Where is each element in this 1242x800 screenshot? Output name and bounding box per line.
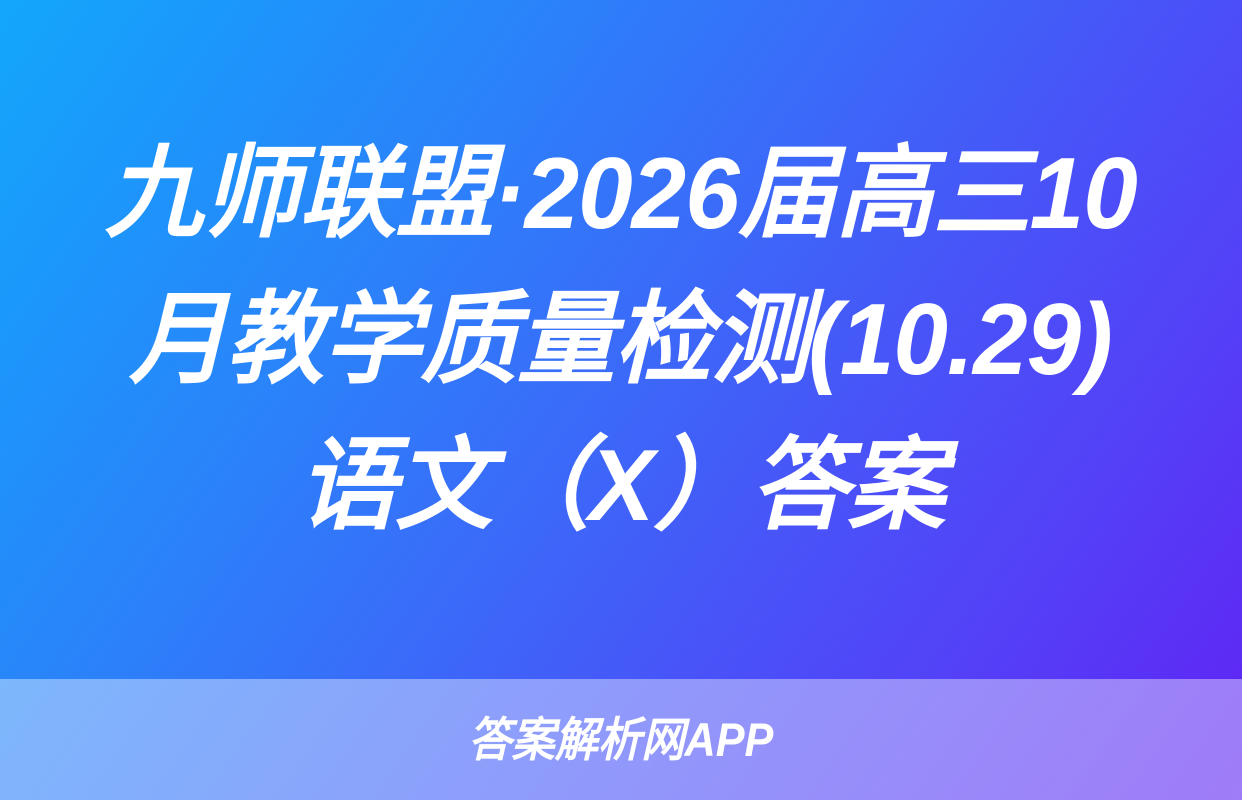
poster-canvas: 九师联盟·2026届高三10 月教学质量检测(10.29) 语文（X）答案 答案… [0, 0, 1242, 800]
title-line-3: 语文（X）答案 [298, 413, 944, 559]
footer-band: 答案解析网APP [0, 679, 1242, 800]
title-line-2: 月教学质量检测(10.29) [130, 267, 1113, 413]
title-line-1: 九师联盟·2026届高三10 [105, 121, 1137, 267]
app-brand-label: 答案解析网APP [468, 716, 773, 763]
title-block: 九师联盟·2026届高三10 月教学质量检测(10.29) 语文（X）答案 [0, 0, 1242, 679]
